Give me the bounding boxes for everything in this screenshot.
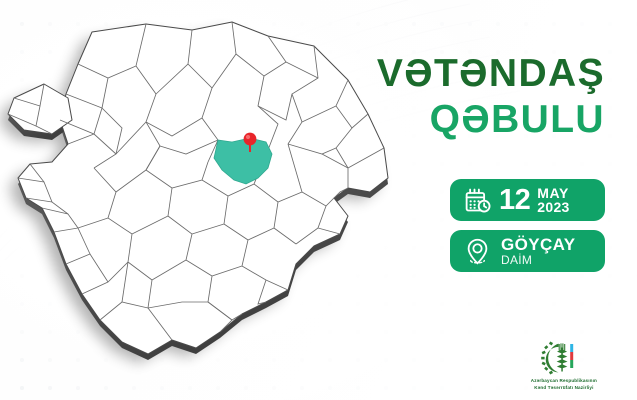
date-day: 12 — [499, 186, 530, 215]
location-city: GÖYÇAY — [501, 236, 576, 254]
date-year: 2023 — [537, 200, 569, 214]
map-container — [0, 2, 426, 400]
date-badge-text: 12 MAY 2023 — [499, 186, 570, 215]
date-month: MAY — [537, 186, 569, 200]
poster-canvas: VƏTƏNDAŞ QƏBULU 12 — [0, 0, 637, 400]
gear-icon — [541, 342, 558, 375]
date-month-year: MAY 2023 — [537, 186, 569, 215]
headline-line-2: QƏBULU — [377, 100, 605, 139]
location-badge-text: GÖYÇAY DAİM — [501, 236, 576, 266]
map-top-face — [8, 22, 388, 354]
wheat-icon — [556, 344, 567, 372]
ministry-name-line-2: Kənd Təsərrüfatı Nazirliyi — [534, 385, 593, 390]
info-badges: 12 MAY 2023 GÖYÇAY DAİM — [450, 179, 605, 272]
location-pin-icon — [461, 235, 494, 268]
calendar-clock-icon — [461, 184, 494, 217]
wheat-gear-flag-logo — [541, 340, 587, 376]
ministry-name-line-1: Azərbaycan Respublikasının — [531, 378, 597, 383]
ministry-logo-text: Azərbaycan Respublikasının Kənd Təsərrüf… — [531, 378, 597, 392]
ministry-logo: Azərbaycan Respublikasının Kənd Təsərrüf… — [531, 340, 597, 392]
location-badge[interactable]: GÖYÇAY DAİM — [450, 230, 605, 272]
location-mode: DAİM — [501, 254, 576, 267]
headline-line-1: VƏTƏNDAŞ — [377, 54, 605, 93]
page-title: VƏTƏNDAŞ QƏBULU — [377, 54, 605, 139]
azerbaijan-districts-map — [0, 2, 426, 400]
flag-icon — [570, 344, 573, 368]
date-badge[interactable]: 12 MAY 2023 — [450, 179, 605, 221]
